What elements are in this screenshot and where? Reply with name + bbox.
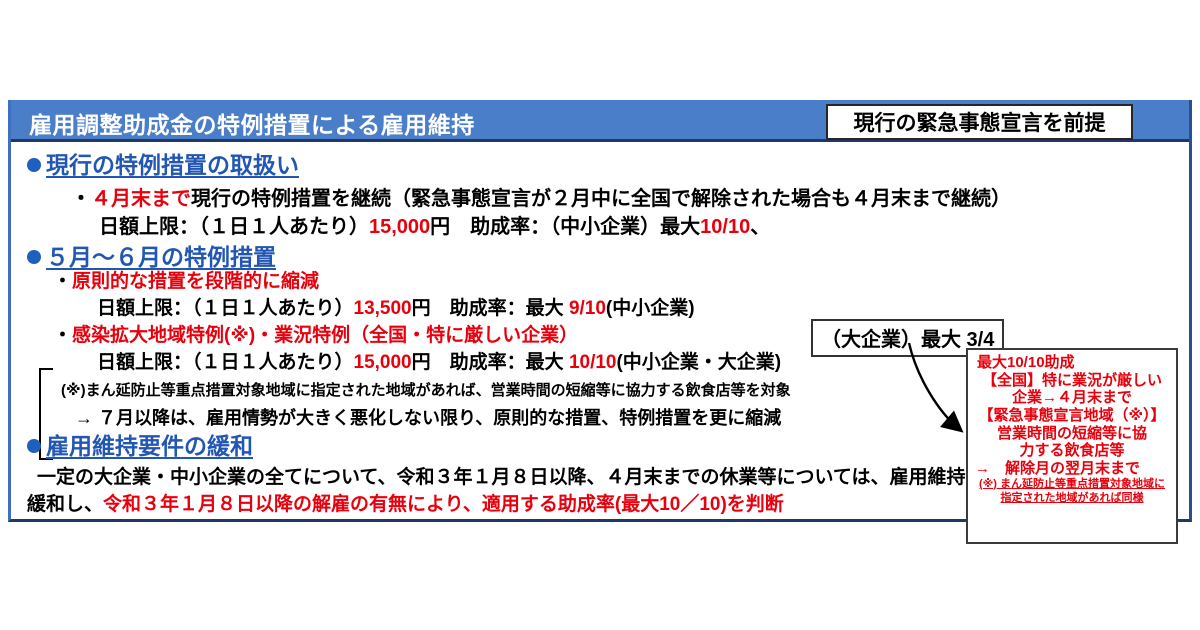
section2-item2-sub: 日額上限：（１日１人あたり）15,000円 助成率：最大 10/10(中小企業・…	[97, 353, 781, 372]
section1-line1: ・４月末まで現行の特例措置を継続（緊急事態宣言が２月中に全国で解除された場合も４…	[71, 189, 1011, 209]
bullet-dot-icon	[27, 250, 41, 264]
bullet-dot-icon	[27, 439, 41, 453]
red-callout-line-4: 【緊急事態宣言地域（※）】	[971, 407, 1173, 425]
red-callout-line-7: → 解除月の翌月末まで	[971, 460, 1173, 478]
section1-line1-bullet: ・	[71, 188, 91, 210]
section2-item2-bullet: ・	[53, 325, 72, 346]
premise-badge: 現行の緊急事態宣言を前提	[826, 104, 1133, 140]
section3-body-b: 緩和し、	[27, 494, 103, 515]
section1-line2-amount: 15,000	[369, 216, 430, 238]
section2-heading-row: ５月～６月の特例措置	[27, 246, 276, 269]
red-callout-line-9: 指定された地域があれば同様	[971, 492, 1173, 506]
section1-line2-a: 日額上限：（１日１人あたり）	[99, 216, 369, 238]
red-callout-box: 最大10/10助成 【全国】特に業況が厳しい 企業→４月末まで 【緊急事態宣言地…	[966, 348, 1178, 544]
section1-line2-c: 、	[750, 216, 770, 238]
page-title: 雇用調整助成金の特例措置による雇用維持	[29, 106, 475, 140]
section2-item1-text: 原則的な措置を段階的に縮減	[72, 271, 319, 292]
section2-item1-sub-b: 円 助成率：最大	[412, 298, 564, 319]
section2-item1: ・原則的な措置を段階的に縮減	[53, 272, 319, 291]
red-callout-line-2: 【全国】特に業況が厳しい	[971, 372, 1173, 390]
section2-item2-amount: 15,000	[354, 352, 412, 373]
section2-footnote: (※)まん延防止等重点措置対象地域に指定された地域があれば、営業時間の短縮等に協…	[61, 383, 791, 398]
section1-heading-row: 現行の特例措置の取扱い	[27, 154, 299, 177]
section2-item2: ・感染拡大地域特例(※)・業況特例（全国・特に厳しい企業）	[53, 326, 578, 345]
section2-item1-sub: 日額上限：（１日１人あたり）13,500円 助成率：最大 9/10(中小企業)	[97, 299, 695, 318]
section3-body-line2: 緩和し、令和３年１月８日以降の解雇の有無により、適用する助成率(最大10／10)…	[27, 495, 784, 514]
section2-july-note: → ７月以降は、雇用情勢が大きく悪化しない限り、原則的な措置、特例措置を更に縮減	[75, 409, 781, 427]
red-callout-line-8: (※) まん延防止等重点措置対象地域に	[971, 478, 1173, 492]
section3-body-line1: 一定の大企業・中小企業の全てについて、令和３年１月８日以降、４月末までの休業等に…	[37, 468, 1023, 487]
section3-body-red: 令和３年１月８日以降の解雇の有無により、適用する助成率(最大10／10)を判断	[103, 494, 784, 515]
section2-item1-sub-a: 日額上限：（１日１人あたり）	[97, 298, 354, 319]
red-callout-line-6: 力する飲食店等	[971, 442, 1173, 460]
red-callout-line-3: 企業→４月末まで	[971, 389, 1173, 407]
section2-item2-rate: 10/10	[569, 352, 617, 373]
section3-heading: 雇用維持要件の緩和	[46, 433, 253, 459]
section1-heading: 現行の特例措置の取扱い	[46, 152, 299, 178]
section1-line2-b: 円 助成率：（中小企業）最大	[430, 216, 700, 238]
bullet-dot-icon	[27, 158, 41, 172]
section1-line2: 日額上限：（１日１人あたり）15,000円 助成率：（中小企業）最大10/10、	[99, 217, 770, 237]
slide-frame: 雇用調整助成金の特例措置による雇用維持 現行の緊急事態宣言を前提 現行の特例措置…	[8, 100, 1192, 522]
section2-item1-sub-c: (中小企業)	[606, 298, 695, 319]
section2-item2-text: 感染拡大地域特例(※)・業況特例（全国・特に厳しい企業）	[72, 325, 578, 346]
red-callout-line-5: 営業時間の短縮等に協	[971, 425, 1173, 443]
section3-heading-row: 雇用維持要件の緩和	[27, 435, 253, 458]
red-callout-line-1: 最大10/10助成	[971, 354, 1173, 372]
section1-line2-rate: 10/10	[700, 216, 750, 238]
section1-line1-text: 現行の特例措置を継続（緊急事態宣言が２月中に全国で解除された場合も４月末まで継続…	[191, 188, 1011, 210]
section2-heading: ５月～６月の特例措置	[46, 244, 276, 270]
section2-item2-sub-b: 円 助成率：最大	[412, 352, 564, 373]
section2-item2-sub-a: 日額上限：（１日１人あたり）	[97, 352, 354, 373]
section1-line1-red: ４月末まで	[91, 188, 191, 210]
section2-item2-sub-c: (中小企業・大企業)	[616, 352, 781, 373]
section2-item1-bullet: ・	[53, 271, 72, 292]
section2-item1-amount: 13,500	[354, 298, 412, 319]
section2-item1-rate: 9/10	[569, 298, 606, 319]
